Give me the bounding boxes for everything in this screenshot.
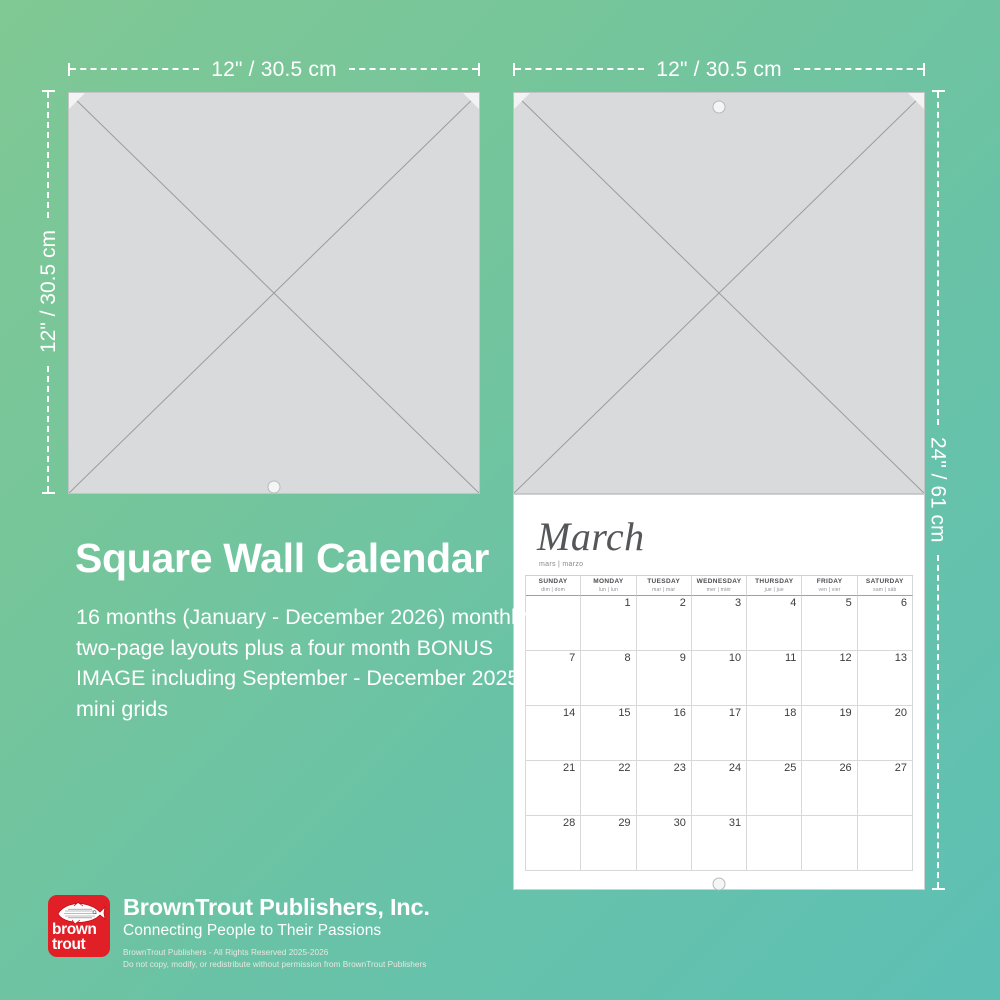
calendar-day-cell[interactable]: 15 xyxy=(581,706,636,761)
day-number: 8 xyxy=(624,653,630,664)
calendar-day-cell[interactable]: 9 xyxy=(637,651,692,706)
dimension-left-vertical-label: 12" / 30.5 cm xyxy=(38,218,59,365)
day-number: 24 xyxy=(729,763,741,774)
day-number: 3 xyxy=(735,598,741,609)
day-header-monday: MONDAY lun | lun xyxy=(581,576,636,596)
dimension-top-right: 12" / 30.5 cm xyxy=(513,59,925,79)
day-number: 16 xyxy=(674,708,686,719)
dimension-top-left: 12" / 30.5 cm xyxy=(68,59,480,79)
calendar-day-cell[interactable]: 11 xyxy=(747,651,802,706)
calendar-day-cell[interactable]: 1 xyxy=(581,596,636,651)
dimension-cap-end xyxy=(923,63,925,76)
day-number: 26 xyxy=(839,763,851,774)
day-header-name: FRIDAY xyxy=(817,578,843,585)
day-header-sub: sam | sáb xyxy=(873,587,896,593)
dimension-dash-bottom xyxy=(937,555,939,888)
calendar-grid: SUNDAY dim | dom MONDAY lun | lun TUESDA… xyxy=(525,575,913,871)
dimension-dash-top xyxy=(47,92,49,218)
dimension-dash-bottom xyxy=(47,366,49,492)
day-header-name: THURSDAY xyxy=(755,578,793,585)
dimension-cap-end xyxy=(932,888,945,890)
day-header-friday: FRIDAY ven | vier xyxy=(802,576,857,596)
day-number: 19 xyxy=(839,708,851,719)
footer-branding: brown trout BrownTrout Publishers, Inc. … xyxy=(48,895,430,970)
binding-hole xyxy=(713,878,726,891)
day-number: 1 xyxy=(624,598,630,609)
day-number: 7 xyxy=(569,653,575,664)
calendar-day-cell[interactable]: 25 xyxy=(747,761,802,816)
day-header-name: TUESDAY xyxy=(647,578,680,585)
day-header-saturday: SATURDAY sam | sáb xyxy=(858,576,913,596)
calendar-day-cell[interactable]: 5 xyxy=(802,596,857,651)
calendar-day-cell[interactable]: 30 xyxy=(637,816,692,871)
day-header-sunday: SUNDAY dim | dom xyxy=(526,576,581,596)
calendar-day-cell[interactable]: 10 xyxy=(692,651,747,706)
calendar-day-cell[interactable]: 24 xyxy=(692,761,747,816)
copyright-line-1: BrownTrout Publishers - All Rights Reser… xyxy=(123,947,430,959)
day-header-sub: dim | dom xyxy=(541,587,565,593)
calendar-month-title: March xyxy=(537,517,645,557)
product-preview-canvas: 12" / 30.5 cm 12" / 30.5 cm 12" / 30.5 c… xyxy=(0,0,1000,1000)
left-image-panel xyxy=(68,92,480,494)
product-description: 16 months (January - December 2026) mont… xyxy=(76,602,536,724)
dimension-cap-end xyxy=(42,492,55,494)
calendar-week-row: 14 15 16 17 18 19 20 xyxy=(526,706,913,761)
dimension-dash-top xyxy=(937,92,939,425)
calendar-page: March mars | marzo SUNDAY dim | dom MOND… xyxy=(513,494,925,890)
day-header-name: SUNDAY xyxy=(539,578,568,585)
dimension-top-left-label: 12" / 30.5 cm xyxy=(199,59,349,80)
dimension-right-vertical: 24" / 61 cm xyxy=(928,90,948,890)
dimension-dash-left xyxy=(70,68,199,70)
day-number: 21 xyxy=(563,763,575,774)
logo-word-trout: trout xyxy=(52,938,110,953)
day-number: 29 xyxy=(618,818,630,829)
day-number: 31 xyxy=(729,818,741,829)
right-image-panel xyxy=(513,92,925,494)
day-number: 10 xyxy=(729,653,741,664)
day-header-sub: lun | lun xyxy=(599,587,618,593)
calendar-day-cell[interactable] xyxy=(747,816,802,871)
calendar-day-cell[interactable]: 6 xyxy=(858,596,913,651)
day-header-sub: mer | miér xyxy=(707,587,731,593)
day-header-wednesday: WEDNESDAY mer | miér xyxy=(692,576,747,596)
dimension-top-right-label: 12" / 30.5 cm xyxy=(644,59,794,80)
publisher-tagline: Connecting People to Their Passions xyxy=(123,921,430,940)
page-corner-fold-right xyxy=(908,93,924,109)
calendar-day-cell[interactable]: 28 xyxy=(526,816,581,871)
day-header-name: WEDNESDAY xyxy=(697,578,742,585)
calendar-week-row: 7 8 9 10 11 12 13 xyxy=(526,651,913,706)
day-number: 14 xyxy=(563,708,575,719)
day-number: 11 xyxy=(785,653,796,664)
calendar-day-cell[interactable] xyxy=(802,816,857,871)
calendar-day-cell[interactable]: 17 xyxy=(692,706,747,761)
dimension-left-vertical: 12" / 30.5 cm xyxy=(38,90,58,494)
day-header-name: MONDAY xyxy=(593,578,623,585)
dimension-cap-end xyxy=(478,63,480,76)
calendar-day-cell[interactable] xyxy=(858,816,913,871)
day-header-sub: mar | mar xyxy=(652,587,675,593)
day-header-sub: jue | jue xyxy=(765,587,784,593)
day-number: 4 xyxy=(790,598,796,609)
calendar-day-cell[interactable]: 19 xyxy=(802,706,857,761)
placeholder-cross-icon xyxy=(69,93,479,493)
dimension-dash-right xyxy=(794,68,923,70)
binding-hole xyxy=(713,101,726,114)
calendar-day-cell[interactable]: 23 xyxy=(637,761,692,816)
calendar-day-cell[interactable]: 8 xyxy=(581,651,636,706)
day-number: 17 xyxy=(729,708,741,719)
day-number: 22 xyxy=(618,763,630,774)
calendar-month-subtitle: mars | marzo xyxy=(539,561,583,568)
calendar-day-cell[interactable]: 13 xyxy=(858,651,913,706)
day-number: 23 xyxy=(674,763,686,774)
calendar-header-row: SUNDAY dim | dom MONDAY lun | lun TUESDA… xyxy=(526,576,913,596)
day-header-sub: ven | vier xyxy=(818,587,840,593)
calendar-day-cell[interactable]: 31 xyxy=(692,816,747,871)
calendar-week-row: 21 22 23 24 25 26 27 xyxy=(526,761,913,816)
footer-text-block: BrownTrout Publishers, Inc. Connecting P… xyxy=(123,895,430,970)
page-corner-fold-left xyxy=(69,93,85,109)
day-number: 2 xyxy=(680,598,686,609)
page-corner-fold-right xyxy=(463,93,479,109)
calendar-day-cell[interactable]: 16 xyxy=(637,706,692,761)
calendar-day-cell[interactable]: 20 xyxy=(858,706,913,761)
day-number: 12 xyxy=(839,653,851,664)
day-number: 18 xyxy=(784,708,796,719)
calendar-day-cell[interactable]: 3 xyxy=(692,596,747,651)
day-header-name: SATURDAY xyxy=(866,578,904,585)
dimension-dash-left xyxy=(515,68,644,70)
calendar-day-cell[interactable]: 29 xyxy=(581,816,636,871)
day-number: 28 xyxy=(563,818,575,829)
calendar-day-cell[interactable]: 2 xyxy=(637,596,692,651)
day-number: 9 xyxy=(680,653,686,664)
placeholder-cross-icon xyxy=(514,93,924,493)
dimension-dash-right xyxy=(349,68,478,70)
dimension-right-vertical-label: 24" / 61 cm xyxy=(928,425,949,555)
day-number: 5 xyxy=(846,598,852,609)
calendar-day-cell[interactable]: 12 xyxy=(802,651,857,706)
product-title: Square Wall Calendar xyxy=(75,538,489,579)
calendar-day-cell[interactable]: 26 xyxy=(802,761,857,816)
day-number: 20 xyxy=(895,708,907,719)
day-header-tuesday: TUESDAY mar | mar xyxy=(637,576,692,596)
calendar-day-cell[interactable]: 18 xyxy=(747,706,802,761)
logo-wordmark: brown trout xyxy=(48,923,110,952)
day-number: 13 xyxy=(895,653,907,664)
day-number: 15 xyxy=(618,708,630,719)
publisher-name: BrownTrout Publishers, Inc. xyxy=(123,895,430,920)
calendar-day-cell[interactable]: 27 xyxy=(858,761,913,816)
day-number: 30 xyxy=(674,818,686,829)
copyright-line-2: Do not copy, modify, or redistribute wit… xyxy=(123,959,430,971)
calendar-day-cell[interactable]: 22 xyxy=(581,761,636,816)
calendar-week-row: 28 29 30 31 xyxy=(526,816,913,871)
calendar-week-row: 1 2 3 4 5 6 xyxy=(526,596,913,651)
calendar-day-cell[interactable]: 4 xyxy=(747,596,802,651)
day-number: 6 xyxy=(901,598,907,609)
day-number: 25 xyxy=(784,763,796,774)
browntrout-logo[interactable]: brown trout xyxy=(48,895,110,957)
calendar-day-cell[interactable]: 21 xyxy=(526,761,581,816)
page-corner-fold-left xyxy=(514,93,530,109)
day-number: 27 xyxy=(895,763,907,774)
copyright-notice: BrownTrout Publishers - All Rights Reser… xyxy=(123,947,430,970)
binding-hole xyxy=(268,481,281,494)
day-header-thursday: THURSDAY jue | jue xyxy=(747,576,802,596)
